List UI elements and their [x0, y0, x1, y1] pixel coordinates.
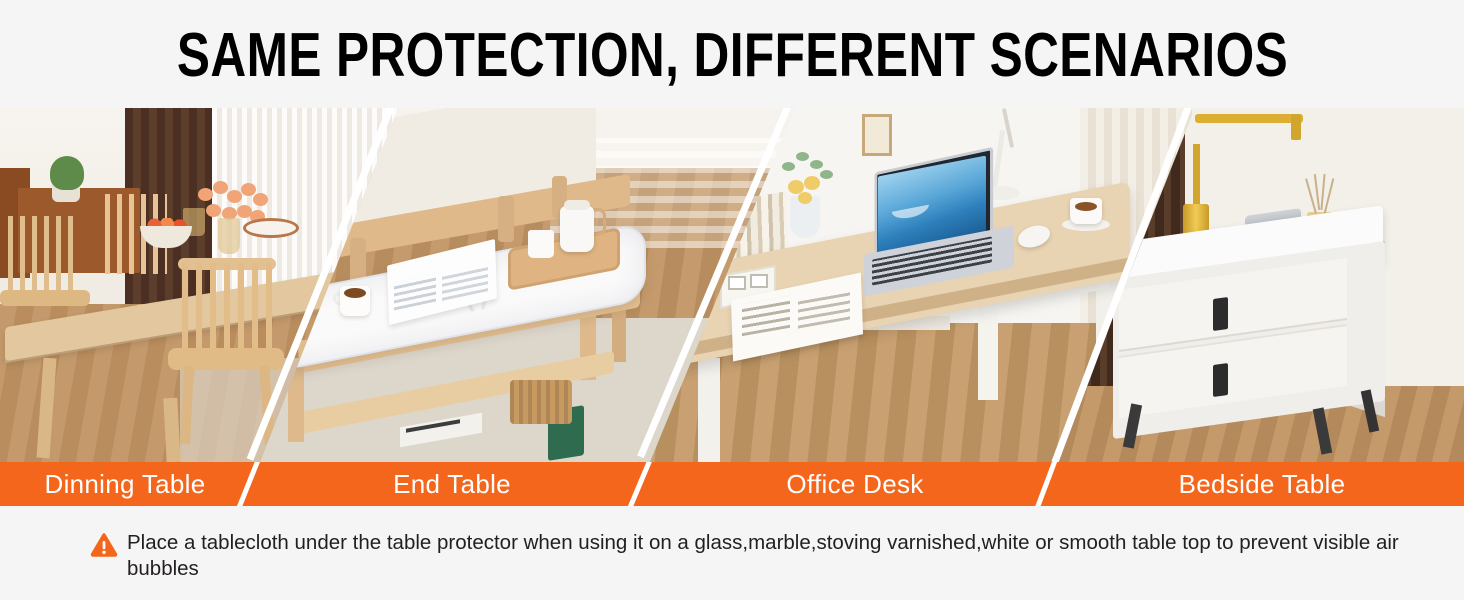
potted-plant [50, 156, 84, 190]
drawer-handle-top [1213, 297, 1228, 331]
tray-mug [528, 230, 554, 258]
scenario-label-dining-table: Dinning Table [0, 462, 250, 506]
box-frame-right [750, 274, 768, 288]
desk-leg-right [978, 290, 998, 400]
scenario-label-bar: Dinning Table End Table Office Desk Beds… [0, 462, 1464, 506]
chair-front-back [182, 263, 272, 358]
chair-left-back [8, 216, 78, 300]
page-title: SAME PROTECTION, DIFFERENT SCENARIOS [176, 21, 1287, 87]
scenario-label-bedside-table: Bedside Table [1062, 462, 1462, 506]
sofa-leg-mid [498, 196, 514, 242]
storage-basket [510, 380, 572, 424]
teapot-handle [592, 208, 606, 236]
chair-left-seat [0, 290, 90, 306]
flower-vase [218, 218, 240, 254]
coffee-liquid [344, 288, 366, 298]
dinner-plate [243, 218, 299, 238]
banner-header: SAME PROTECTION, DIFFERENT SCENARIOS [0, 0, 1464, 108]
drawer-handle-bottom [1213, 363, 1228, 397]
flower-vase [790, 196, 820, 238]
lamp-head [1291, 114, 1301, 140]
framed-artwork [862, 114, 892, 156]
warning-triangle-icon [90, 532, 118, 562]
desk-leg-left [698, 358, 720, 462]
coffee-liquid [1075, 202, 1097, 211]
warning-note-text: Place a tablecloth under the table prote… [127, 530, 1420, 582]
scenario-photo-strip [0, 108, 1464, 462]
scenario-label-end-table: End Table [262, 462, 642, 506]
scenario-label-office-desk: Office Desk [660, 462, 1050, 506]
teapot [560, 206, 594, 252]
warning-note: Place a tablecloth under the table prote… [90, 530, 1420, 582]
box-frame-left [728, 276, 746, 290]
lamp-arm-horizontal [1195, 114, 1303, 123]
teapot-lid [564, 200, 590, 210]
